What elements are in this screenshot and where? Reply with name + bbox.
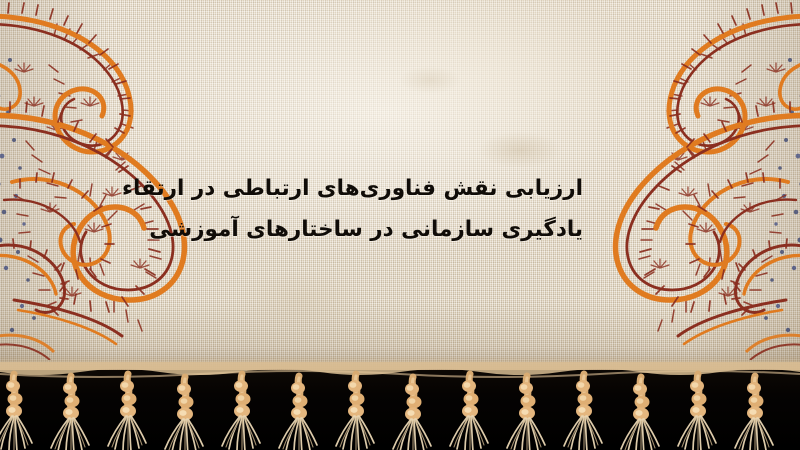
title-block: ارزیابی نقش فناوری‌های ارتباطی در ارتقاء… [213,168,583,250]
title-line-1: ارزیابی نقش فناوری‌های ارتباطی در ارتقاء [213,168,583,209]
dark-background-band [0,370,800,450]
title-card: ارزیابی نقش فناوری‌های ارتباطی در ارتقاء… [0,0,800,450]
title-line-2: یادگیری سازمانی در ساختارهای آموزشی [213,209,583,250]
